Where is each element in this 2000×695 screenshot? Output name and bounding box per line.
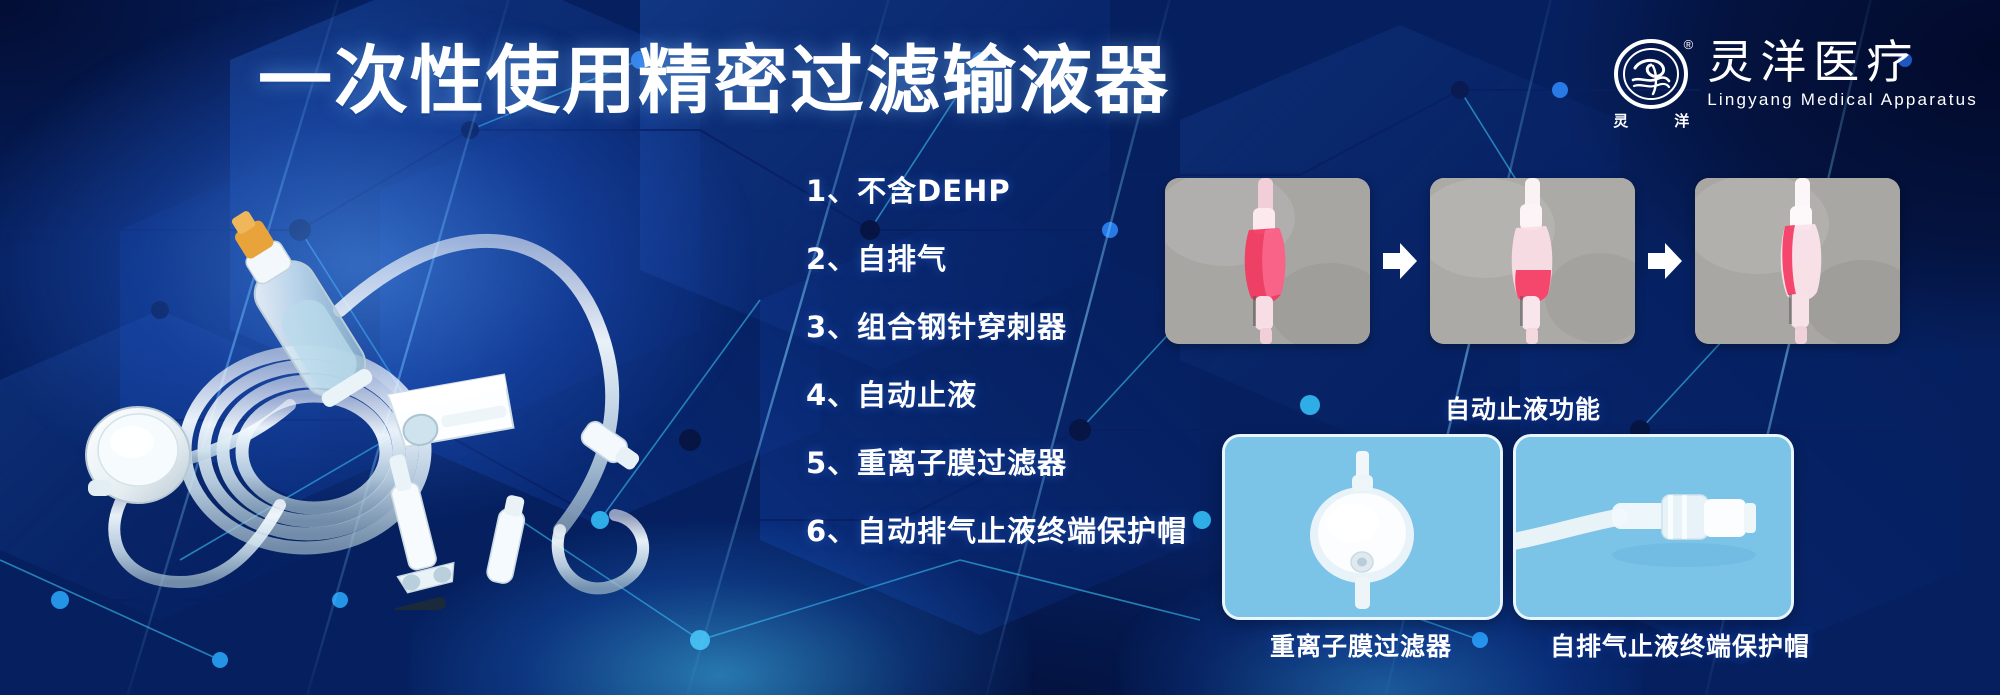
feature-item-4: 4、自动止液 [806, 372, 1187, 414]
caption-auto-stop: 自动止液功能 [1445, 390, 1601, 426]
photo-auto-stop-step-2 [1430, 178, 1635, 344]
photo-auto-stop-step-3 [1695, 178, 1900, 344]
photo-auto-stop-step-1 [1165, 178, 1370, 344]
panel-heavy-ion-filter [1222, 434, 1503, 620]
arrow-right-icon-1 [1382, 240, 1418, 282]
feature-list: 1、不含DEHP 2、自排气 3、组合钢针穿刺器 4、自动止液 5、重离子膜过滤… [806, 168, 1187, 550]
caption-end-cap: 自排气止液终端保护帽 [1550, 627, 1810, 663]
feature-item-6: 6、自动排气止液终端保护帽 [806, 508, 1187, 550]
brand-emblem-char-right: 洋 [1674, 110, 1689, 131]
hero-product-photo [40, 150, 680, 610]
brand-name-cn: 灵洋医疗 [1707, 38, 1978, 86]
page-title: 一次性使用精密过滤输液器 [258, 44, 1170, 118]
feature-item-5: 5、重离子膜过滤器 [806, 440, 1187, 482]
brand-logo: ® 灵 洋 灵洋医疗 Lingyang Medical Apparatus [1613, 36, 1978, 112]
brand-name-en: Lingyang Medical Apparatus [1707, 90, 1978, 110]
arrow-right-icon-2 [1647, 240, 1683, 282]
caption-heavy-ion-filter: 重离子膜过滤器 [1270, 627, 1452, 663]
panel-end-cap [1513, 434, 1794, 620]
brand-emblem-char-left: 灵 [1613, 110, 1628, 131]
product-banner: 一次性使用精密过滤输液器 ® 灵 洋 灵洋医疗 Lingyang Medical… [0, 0, 2000, 695]
feature-item-1: 1、不含DEHP [806, 168, 1187, 210]
feature-item-3: 3、组合钢针穿刺器 [806, 304, 1187, 346]
registered-trademark-icon: ® [1684, 38, 1694, 51]
auto-stop-photo-sequence [1165, 178, 1900, 344]
feature-item-2: 2、自排气 [806, 236, 1187, 278]
brand-emblem-icon: ® 灵 洋 [1613, 36, 1689, 112]
